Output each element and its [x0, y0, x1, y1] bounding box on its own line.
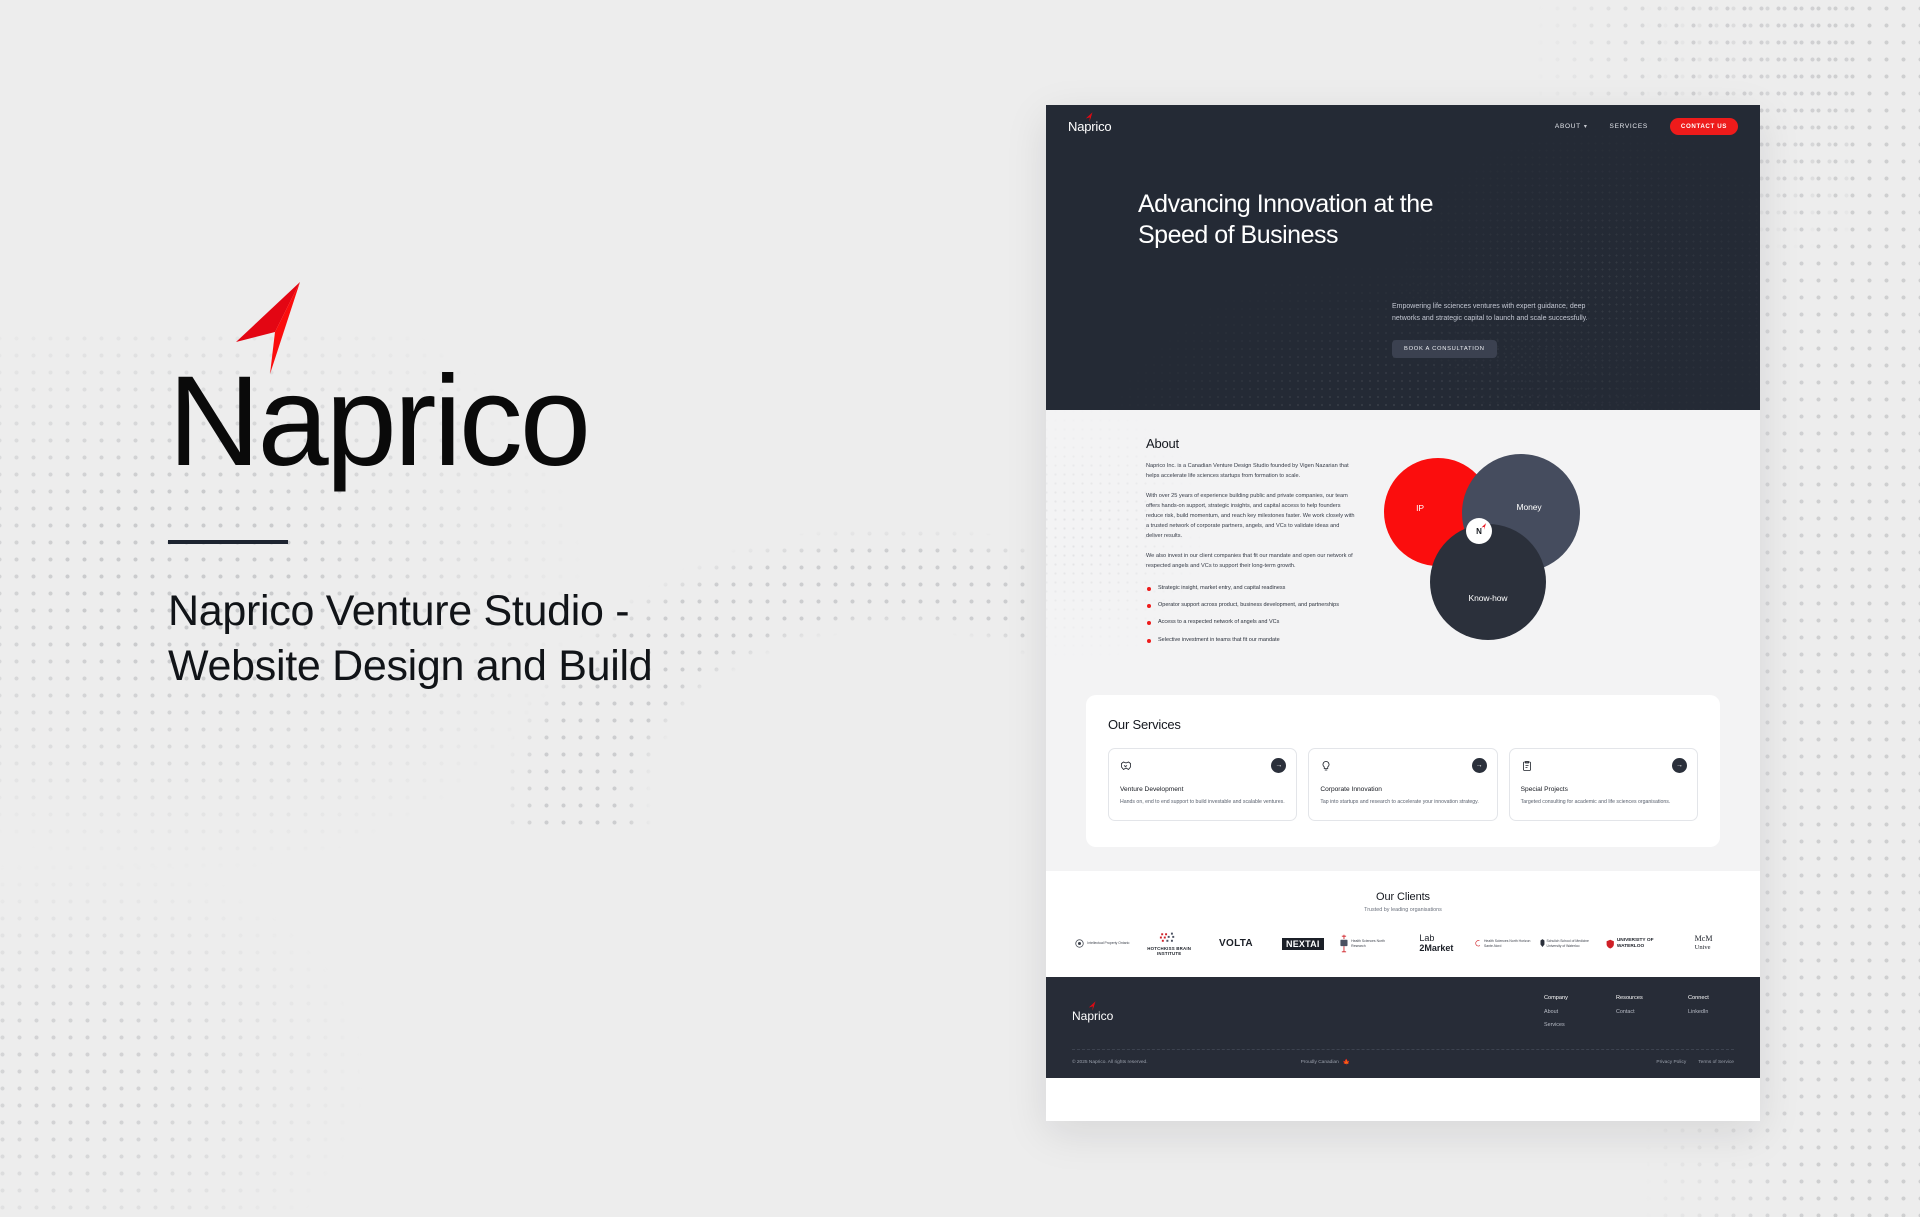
nav-item-services-label: SERVICES [1610, 123, 1648, 130]
footer-column-company: Company About Services [1544, 995, 1590, 1035]
footer-link-privacy-policy[interactable]: Privacy Policy [1656, 1060, 1686, 1065]
footer-link-columns: Company About Services Resources Contact… [1544, 995, 1734, 1035]
hotchkiss-dots-icon [1159, 932, 1179, 945]
service-card-venture-development[interactable]: → Venture Development Hands on, end to e… [1108, 748, 1297, 821]
service-arrow-button[interactable]: → [1472, 758, 1487, 773]
arrow-right-icon: → [1476, 762, 1483, 769]
branding-panel: Naprico Naprico Venture Studio - Website… [168, 280, 868, 694]
client-logo-waterloo: UNIVERSITY OF WATERLOO [1606, 929, 1667, 959]
service-card-special-projects[interactable]: → Special Projects Targeted consulting f… [1509, 748, 1698, 821]
footer-column-resources: Resources Contact [1616, 995, 1662, 1035]
page-canvas: Naprico Naprico Venture Studio - Website… [0, 0, 1920, 1217]
about-section: About Naprico Inc. is a Canadian Venture… [1046, 410, 1760, 695]
about-paragraph-3: We also invest in our client companies t… [1146, 552, 1356, 572]
footer-column-heading: Connect [1688, 995, 1734, 1001]
about-paragraph-2: With over 25 years of experience buildin… [1146, 492, 1356, 542]
client-logo-label: Health Sciences North Horizon Sante-Nord [1484, 939, 1534, 948]
client-logo-label: Intellectual Property Ontario [1087, 941, 1129, 945]
footer-column-connect: Connect LinkedIn [1688, 995, 1734, 1035]
hero-subtitle: Empowering life sciences ventures with e… [1392, 301, 1602, 326]
venn-label-knowhow: Know-how [1469, 593, 1508, 603]
footer-link-about[interactable]: About [1544, 1009, 1590, 1015]
clipboard-icon [1521, 760, 1533, 772]
client-logo-hsn: Health Sciences North Horizon Sante-Nord [1473, 929, 1534, 959]
crest-icon [1339, 934, 1349, 954]
navbar-links: ABOUT ▾ SERVICES CONTACT US [1555, 118, 1738, 135]
hero-body: Advancing Innovation at the Speed of Bus… [1046, 189, 1760, 358]
client-logo-label: UNIVERSITY OF WATERLOO [1617, 938, 1667, 950]
service-description: Targeted consulting for academic and lif… [1521, 798, 1686, 807]
logo-lockup: Naprico [168, 280, 828, 480]
nav-item-services[interactable]: SERVICES [1610, 123, 1648, 130]
maple-leaf-icon: 🍁 [1343, 1059, 1350, 1066]
about-paragraph-1: Naprico Inc. is a Canadian Venture Desig… [1146, 462, 1356, 482]
venn-circle-knowhow: Know-how [1430, 524, 1546, 640]
venn-center-badge: N [1466, 518, 1492, 544]
footer-bottom-bar: © 2025 Naprico. All rights reserved. Pro… [1072, 1050, 1734, 1078]
contact-us-button[interactable]: CONTACT US [1670, 118, 1738, 135]
client-logo-schulich: Schulich School of Medicine University o… [1540, 929, 1601, 959]
site-footer: Naprico Company About Services Resources… [1046, 977, 1760, 1078]
services-section: Our Services → Venture Development Hands… [1046, 695, 1760, 871]
website-mockup: Naprico ABOUT ▾ SERVICES CONTACT US Adva… [1046, 105, 1760, 1121]
clients-subheading: Trusted by leading organisations [1046, 907, 1760, 913]
service-arrow-button[interactable]: → [1271, 758, 1286, 773]
footer-top: Naprico Company About Services Resources… [1072, 995, 1734, 1035]
client-logo-label: Schulich School of Medicine University o… [1547, 939, 1601, 948]
nav-item-about[interactable]: ABOUT ▾ [1555, 123, 1588, 130]
about-bullet: Access to a respected network of angels … [1146, 618, 1356, 627]
footer-proudly-label: Proudly Canadian [1301, 1060, 1339, 1065]
footer-link-services[interactable]: Services [1544, 1022, 1590, 1028]
arrow-right-icon: → [1275, 762, 1282, 769]
client-logo-label: Lab2Market [1419, 934, 1453, 953]
client-logo-label: McMUnive [1695, 935, 1713, 952]
about-bullet: Operator support across product, busines… [1146, 601, 1356, 610]
site-navbar: Naprico ABOUT ▾ SERVICES CONTACT US [1046, 105, 1760, 147]
footer-link-linkedin[interactable]: LinkedIn [1688, 1009, 1734, 1015]
footer-proudly-canadian: Proudly Canadian 🍁 [1301, 1059, 1351, 1066]
brand-divider [168, 540, 288, 544]
client-logo-mcmaster: McMUnive [1673, 929, 1734, 959]
client-logo-lab2market: Lab2Market [1406, 929, 1467, 959]
footer-legal-links: Privacy Policy Terms of Service [1656, 1060, 1734, 1065]
project-caption: Naprico Venture Studio - Website Design … [168, 584, 728, 694]
chevron-down-icon: ▾ [1584, 123, 1588, 130]
services-heading: Our Services [1108, 717, 1698, 732]
shield-circle-icon [1075, 939, 1084, 948]
venn-diagram: IP Money Know-how N [1382, 446, 1612, 646]
client-logo-hsn-crest: Health Sciences North Research [1339, 929, 1400, 959]
red-compass-arrow-icon [1088, 1001, 1097, 1011]
nav-item-about-label: ABOUT [1555, 123, 1581, 130]
footer-column-heading: Company [1544, 995, 1590, 1001]
arrow-right-icon: → [1676, 762, 1683, 769]
services-card: Our Services → Venture Development Hands… [1086, 695, 1720, 847]
navbar-logo[interactable]: Naprico [1068, 119, 1111, 134]
halftone-pattern-bottom-left [0, 740, 580, 1217]
service-arrow-button[interactable]: → [1672, 758, 1687, 773]
handshake-icon [1120, 760, 1132, 772]
clients-heading: Our Clients [1046, 891, 1760, 903]
client-logo-hotchkiss: HOTCHKISS BRAIN INSTITUTE [1139, 929, 1200, 959]
venn-label-ip: IP [1416, 503, 1424, 513]
footer-link-terms-of-service[interactable]: Terms of Service [1698, 1060, 1734, 1065]
client-logo-label: NEXTAI [1282, 938, 1324, 950]
footer-logo[interactable]: Naprico [1072, 1009, 1113, 1035]
services-row: → Venture Development Hands on, end to e… [1108, 748, 1698, 821]
footer-link-contact[interactable]: Contact [1616, 1009, 1662, 1015]
clients-section: Our Clients Trusted by leading organisat… [1046, 871, 1760, 977]
client-logo-nextai: NEXTAI [1272, 929, 1333, 959]
footer-logo-label: Naprico [1072, 1009, 1113, 1023]
hero-section: Naprico ABOUT ▾ SERVICES CONTACT US Adva… [1046, 105, 1760, 410]
about-bullet: Selective investment in teams that fit o… [1146, 636, 1356, 645]
red-compass-arrow-icon [1085, 112, 1094, 122]
client-logo-ipon: Intellectual Property Ontario [1072, 929, 1133, 959]
book-consultation-button[interactable]: BOOK A CONSULTATION [1392, 340, 1497, 358]
about-bullet: Strategic insight, market entry, and cap… [1146, 584, 1356, 593]
service-title: Special Projects [1521, 786, 1686, 793]
brand-wordmark: Naprico [168, 358, 588, 486]
lightbulb-icon [1320, 760, 1332, 772]
client-logo-label: HOTCHKISS BRAIN INSTITUTE [1139, 946, 1200, 956]
service-card-corporate-innovation[interactable]: → Corporate Innovation Tap into startups… [1308, 748, 1497, 821]
client-logo-volta: VOLTA [1206, 929, 1267, 959]
about-inner: About Naprico Inc. is a Canadian Venture… [1046, 436, 1760, 653]
footer-copyright: © 2025 Naprico. All rights reserved. [1072, 1060, 1148, 1065]
waterloo-shield-icon [1606, 938, 1614, 950]
client-logo-label: VOLTA [1219, 938, 1253, 949]
client-logo-label: Health Sciences North Research [1351, 939, 1400, 948]
about-heading: About [1146, 436, 1356, 451]
hero-title: Advancing Innovation at the Speed of Bus… [1138, 189, 1468, 251]
venn-label-money: Money [1516, 502, 1541, 512]
service-title: Venture Development [1120, 786, 1285, 793]
service-title: Corporate Innovation [1320, 786, 1485, 793]
about-text-column: About Naprico Inc. is a Canadian Venture… [1146, 436, 1356, 653]
service-description: Tap into startups and research to accele… [1320, 798, 1485, 807]
about-bullet-list: Strategic insight, market entry, and cap… [1146, 584, 1356, 645]
client-logo-row: Intellectual Property Ontario [1046, 929, 1760, 959]
swirl-icon [1473, 937, 1482, 951]
footer-column-heading: Resources [1616, 995, 1662, 1001]
red-compass-arrow-icon [1481, 523, 1487, 530]
service-description: Hands on, end to end support to build in… [1120, 798, 1285, 807]
shield-icon [1540, 936, 1545, 952]
